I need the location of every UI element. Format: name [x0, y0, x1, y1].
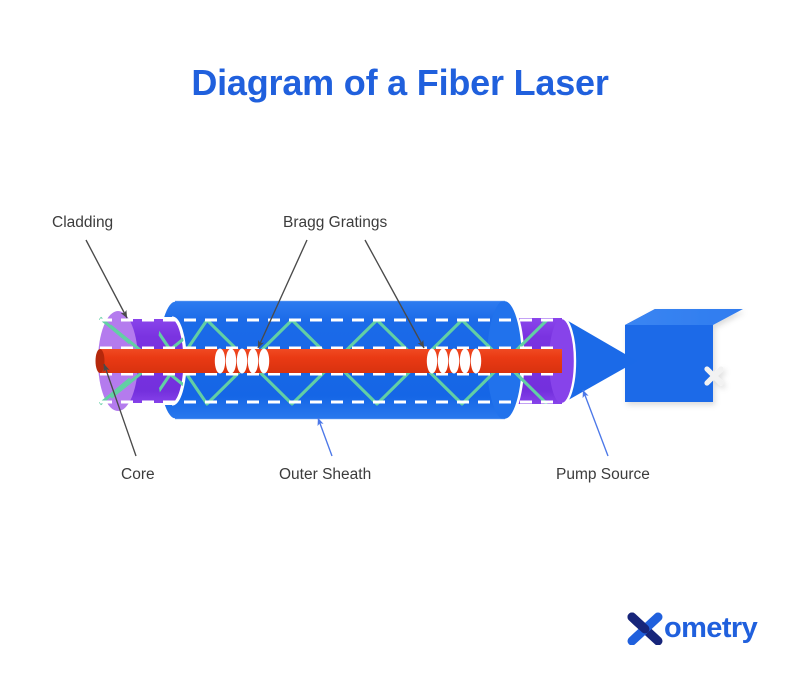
- pump-source-box: [625, 309, 743, 402]
- page-title: Diagram of a Fiber Laser: [0, 62, 800, 104]
- label-cladding: Cladding: [52, 214, 113, 232]
- pump-box-front-face: [625, 325, 713, 402]
- label-bragg-gratings: Bragg Gratings: [283, 214, 387, 232]
- label-outer-sheath: Outer Sheath: [279, 466, 371, 484]
- leader-pump-source: [583, 390, 608, 456]
- leader-cladding: [86, 240, 127, 318]
- xometry-x-icon: [627, 612, 663, 645]
- diagram-canvas: Diagram of a Fiber Laser: [0, 0, 800, 700]
- leader-outer-sheath: [318, 418, 332, 456]
- fiber-laser-illustration: [0, 0, 800, 700]
- core-rod: [96, 349, 563, 373]
- core-end-face: [96, 349, 105, 373]
- label-core: Core: [121, 466, 155, 484]
- bragg-grating-right: [427, 349, 481, 374]
- label-pump-source: Pump Source: [556, 466, 650, 484]
- xometry-wordmark: ometry: [664, 614, 757, 643]
- xometry-logo: ometry: [627, 611, 757, 645]
- pump-box-top-face: [625, 309, 743, 325]
- bragg-grating-left: [215, 349, 269, 374]
